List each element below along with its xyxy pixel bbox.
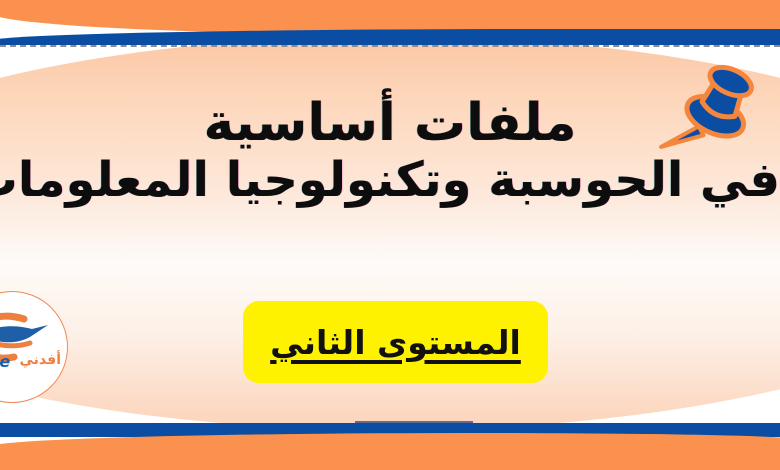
- slide-canvas: ملفات أساسية في الحوسبة وتكنولوجيا المعل…: [0, 0, 780, 470]
- title-line-2: في الحوسبة وتكنولوجيا المعلومات: [0, 156, 780, 206]
- title-block: ملفات أساسية في الحوسبة وتكنولوجيا المعل…: [0, 96, 780, 206]
- swoosh-orbit-icon: [0, 291, 68, 403]
- brand-logo: أفدني Fedne: [0, 291, 68, 403]
- level-badge-label: المستوى الثاني: [270, 323, 521, 362]
- top-dashed-rule: [0, 45, 780, 47]
- logo-arabic-text: أفدني: [20, 353, 61, 367]
- title-line-1: ملفات أساسية: [0, 96, 780, 156]
- logo-latin-text: Fedne: [0, 354, 10, 370]
- bottom-orange-band: [0, 433, 780, 470]
- top-blue-band: [0, 29, 780, 45]
- level-badge: المستوى الثاني: [243, 301, 548, 383]
